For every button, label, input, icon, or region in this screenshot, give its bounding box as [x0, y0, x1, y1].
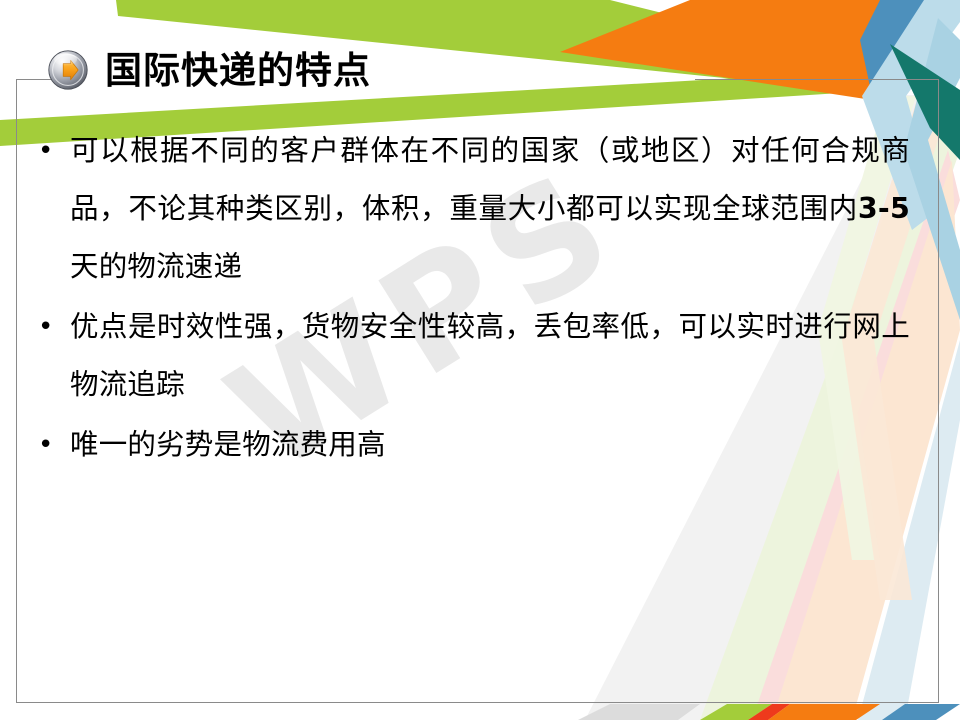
bottom-color-strip [578, 704, 960, 720]
slide-title-row: 国际快递的特点 [48, 50, 371, 90]
bottom-red-band [748, 704, 790, 720]
bullet-text-2: 优点是时效性强，货物安全性较高，丢包率低，可以实时进行网上物流追踪 [70, 298, 910, 414]
bullet-marker: • [30, 122, 70, 180]
bullet-marker: • [30, 416, 70, 474]
bottom-blue-band [882, 704, 960, 720]
arrow-right-circle-icon [48, 50, 88, 90]
bullet-text-emphasis: 3-5 [858, 192, 910, 225]
frame-top-right-segment [695, 79, 939, 80]
bullet-marker: • [30, 298, 70, 356]
bullet-text-1: 可以根据不同的客户群体在不同的国家（或地区）对任何合规商品，不论其种类区别，体积… [70, 122, 910, 296]
bottom-gray-band [578, 704, 700, 720]
presentation-slide: WPS [0, 0, 960, 720]
page-title: 国际快递的特点 [105, 52, 371, 89]
bullet-item-1: • 可以根据不同的客户群体在不同的国家（或地区）对任何合规商品，不论其种类区别，… [30, 122, 910, 296]
bullet-item-3: • 唯一的劣势是物流费用高 [30, 416, 910, 474]
bullet-item-2: • 优点是时效性强，货物安全性较高，丢包率低，可以实时进行网上物流追踪 [30, 298, 910, 414]
bullet-text-3: 唯一的劣势是物流费用高 [70, 416, 910, 474]
bottom-orange-band [768, 704, 880, 720]
bottom-green-band [700, 704, 772, 720]
slide-body: • 可以根据不同的客户群体在不同的国家（或地区）对任何合规商品，不论其种类区别，… [30, 122, 910, 476]
